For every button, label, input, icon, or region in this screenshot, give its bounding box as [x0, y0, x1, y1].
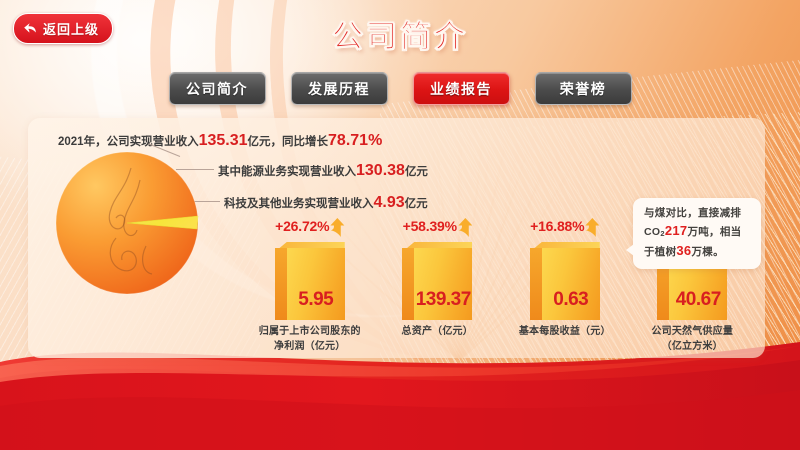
bar-caption-line1: 公司天然气供应量	[627, 324, 757, 339]
revenue-headline: 2021年，公司实现营业收入135.31亿元，同比增长78.71%	[58, 132, 382, 150]
energy-revenue-label: 其中能源业务实现营业收入130.38亿元	[218, 162, 428, 180]
bar-caption-line2: （亿立方米）	[627, 339, 757, 354]
arrow-up-icon	[330, 218, 344, 237]
callout-line-1: 与煤对比，直接减排	[644, 205, 751, 222]
revenue-headline-mid: 亿元，同比增长	[248, 136, 329, 148]
bar-box-side	[402, 248, 414, 320]
slide-canvas: 返回上级 公司简介 公司简介 发展历程 业绩报告 荣誉榜 2021年，公司实现营…	[0, 0, 800, 450]
revenue-value: 135.31	[199, 132, 248, 149]
bar-caption-line1: 基本每股收益（元）	[500, 324, 630, 339]
tech-revenue-label: 科技及其他业务实现营业收入4.93亿元	[224, 194, 428, 212]
revenue-growth-value: 78.71%	[328, 132, 382, 149]
tech-revenue-value: 4.93	[374, 194, 405, 211]
tech-revenue-unit: 亿元	[405, 198, 428, 210]
bar-caption-line1: 归属于上市公司股东的	[245, 324, 375, 339]
tech-revenue-pre: 科技及其他业务实现营业收入	[224, 198, 374, 210]
bar-total-assets: +58.39% 139.37 总资产（亿元）	[374, 218, 502, 358]
callout-co2-unit: 万吨，相当	[687, 226, 741, 238]
tab-history[interactable]: 发展历程	[291, 72, 388, 105]
bar-box: 5.95	[275, 242, 345, 320]
bar-growth-eps: +16.88%	[530, 218, 599, 237]
bar-value: 0.63	[542, 248, 600, 320]
bar-growth-label: +26.72%	[275, 218, 329, 234]
callout-line-2: CO2217万吨，相当	[644, 222, 751, 242]
tab-bar: 公司简介 发展历程 业绩报告 荣誉榜	[0, 72, 800, 105]
bar-caption: 公司天然气供应量 （亿立方米）	[627, 324, 757, 354]
bar-caption: 总资产（亿元）	[372, 324, 502, 339]
energy-revenue-pre: 其中能源业务实现营业收入	[218, 166, 356, 178]
tab-performance-report[interactable]: 业绩报告	[413, 72, 510, 105]
callout-trees-unit: 万棵。	[691, 246, 723, 258]
callout-trees-pre: 于植树	[644, 246, 676, 258]
bar-caption: 归属于上市公司股东的 净利润（亿元）	[245, 324, 375, 354]
arrow-up-icon	[458, 218, 472, 237]
bar-caption: 基本每股收益（元）	[500, 324, 630, 339]
bar-net-profit: +26.72% 5.95 归属于上市公司股东的 净利润（亿元）	[246, 218, 374, 358]
bar-box: 139.37	[402, 242, 472, 320]
bar-growth-total-assets: +58.39%	[403, 218, 472, 237]
revenue-pie-chart	[54, 150, 200, 296]
bar-value: 5.95	[287, 248, 345, 320]
bar-box-side	[530, 248, 542, 320]
bar-value: 139.37	[414, 248, 472, 320]
bar-growth-net-profit: +26.72%	[275, 218, 344, 237]
bar-growth-label: +16.88%	[530, 218, 584, 234]
bar-caption-line2: 净利润（亿元）	[245, 339, 375, 354]
callout-trees-value: 36	[676, 243, 691, 258]
arrow-up-icon	[585, 218, 599, 237]
bar-eps: +16.88% 0.63 基本每股收益（元）	[501, 218, 629, 358]
callout-co2-label: CO	[644, 226, 660, 238]
tab-company-profile[interactable]: 公司简介	[169, 72, 266, 105]
callout-co2-value: 217	[665, 223, 688, 238]
emission-callout: 与煤对比，直接减排 CO2217万吨，相当 于植树36万棵。	[633, 198, 761, 269]
page-title: 公司简介	[0, 11, 800, 56]
energy-revenue-unit: 亿元	[405, 166, 428, 178]
energy-revenue-value: 130.38	[356, 162, 405, 179]
tab-honors[interactable]: 荣誉榜	[535, 72, 632, 105]
bar-box: 0.63	[530, 242, 600, 320]
revenue-headline-pre: 2021年，公司实现营业收入	[58, 136, 199, 148]
callout-line-3: 于植树36万棵。	[644, 242, 751, 261]
bar-growth-label: +58.39%	[403, 218, 457, 234]
bar-box-side	[275, 248, 287, 320]
bar-caption-line1: 总资产（亿元）	[372, 324, 502, 339]
